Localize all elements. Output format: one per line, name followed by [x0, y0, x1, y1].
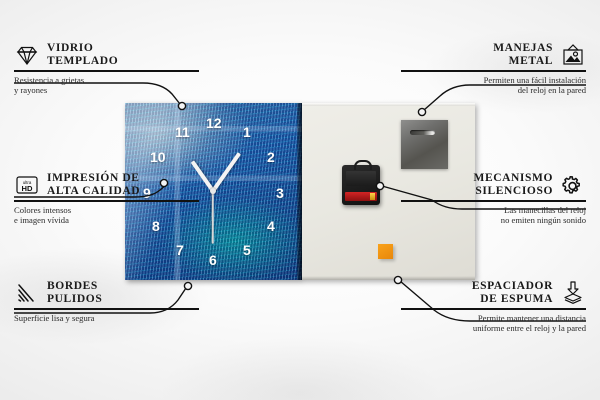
- feature-impresion-alta-calidad[interactable]: ultra HD IMPRESIÓN DEALTA CALIDAD Colore…: [14, 172, 199, 226]
- feature-description: Las manecillas del relojno emiten ningún…: [401, 205, 586, 226]
- feature-rule: [401, 200, 586, 201]
- feature-header: VIDRIOTEMPLADO: [14, 42, 199, 67]
- gear-icon: [560, 173, 586, 197]
- diamond-icon: [14, 43, 40, 67]
- feature-header: MECANISMOSILENCIOSO: [401, 172, 586, 197]
- clock-numeral-6: 6: [209, 253, 217, 267]
- mechanism-battery: [345, 192, 377, 201]
- feature-header: ESPACIADORDE ESPUMA: [401, 280, 586, 305]
- feature-rule: [14, 308, 199, 309]
- feature-description: Resistencia a grietasy rayones: [14, 75, 199, 96]
- feature-bordes-pulidos[interactable]: BORDESPULIDOS Superficie lisa y segura: [14, 280, 199, 323]
- clock-second-hand: [212, 192, 214, 244]
- feature-title: BORDESPULIDOS: [47, 280, 102, 305]
- feature-title: VIDRIOTEMPLADO: [47, 42, 118, 67]
- feature-header: MANEJASMETAL: [401, 42, 586, 67]
- clock-numeral-12: 12: [206, 116, 222, 130]
- clock-numeral-3: 3: [276, 186, 284, 200]
- feature-title: IMPRESIÓN DEALTA CALIDAD: [47, 172, 140, 197]
- feature-rule: [14, 70, 199, 71]
- clock-numeral-11: 11: [175, 125, 190, 139]
- feature-header: ultra HD IMPRESIÓN DEALTA CALIDAD: [14, 172, 199, 197]
- feature-vidrio-templado[interactable]: VIDRIOTEMPLADO Resistencia a grietasy ra…: [14, 42, 199, 96]
- svg-text:HD: HD: [22, 184, 33, 193]
- feature-description: Permite mantener una distanciauniforme e…: [401, 313, 586, 334]
- clock-numeral-4: 4: [267, 219, 275, 233]
- feature-description: Superficie lisa y segura: [14, 313, 199, 323]
- diagonal-lines-icon: [14, 281, 40, 305]
- feature-manejas-metal[interactable]: MANEJASMETAL Permiten una fácil instalac…: [401, 42, 586, 96]
- hanger-slot: [410, 130, 435, 135]
- foam-spacer: [378, 244, 393, 259]
- feature-description: Permiten una fácil instalacióndel reloj …: [401, 75, 586, 96]
- clock-numeral-1: 1: [243, 125, 251, 139]
- metal-hanger-plate: [401, 120, 448, 169]
- feature-rule: [401, 308, 586, 309]
- feature-title: MANEJASMETAL: [493, 42, 553, 67]
- feature-rule: [14, 200, 199, 201]
- mechanism-hook: [354, 160, 372, 170]
- ultra-hd-icon: ultra HD: [14, 173, 40, 197]
- feature-title: MECANISMOSILENCIOSO: [473, 172, 553, 197]
- feature-title: ESPACIADORDE ESPUMA: [472, 280, 553, 305]
- mechanism-board: [346, 171, 376, 186]
- clock-numeral-5: 5: [243, 243, 251, 257]
- picture-frame-icon: [560, 43, 586, 67]
- clock-center-cap: [210, 188, 216, 194]
- clock-numeral-10: 10: [150, 150, 166, 164]
- layers-arrow-icon: [560, 281, 586, 305]
- clock-mechanism: [342, 165, 380, 205]
- clock-numeral-7: 7: [176, 243, 184, 257]
- clock-numeral-2: 2: [267, 150, 275, 164]
- feature-mecanismo-silencioso[interactable]: MECANISMOSILENCIOSO Las manecillas del r…: [401, 172, 586, 226]
- feature-header: BORDESPULIDOS: [14, 280, 199, 305]
- infographic-canvas: 12 1 2 3 4 5 6 7 8 9 10 11: [0, 0, 600, 400]
- feature-rule: [401, 70, 586, 71]
- feature-espaciador-espuma[interactable]: ESPACIADORDE ESPUMA Permite mantener una…: [401, 280, 586, 334]
- feature-description: Colores intensose imagen vívida: [14, 205, 199, 226]
- back-panel-top-edge: [302, 103, 475, 106]
